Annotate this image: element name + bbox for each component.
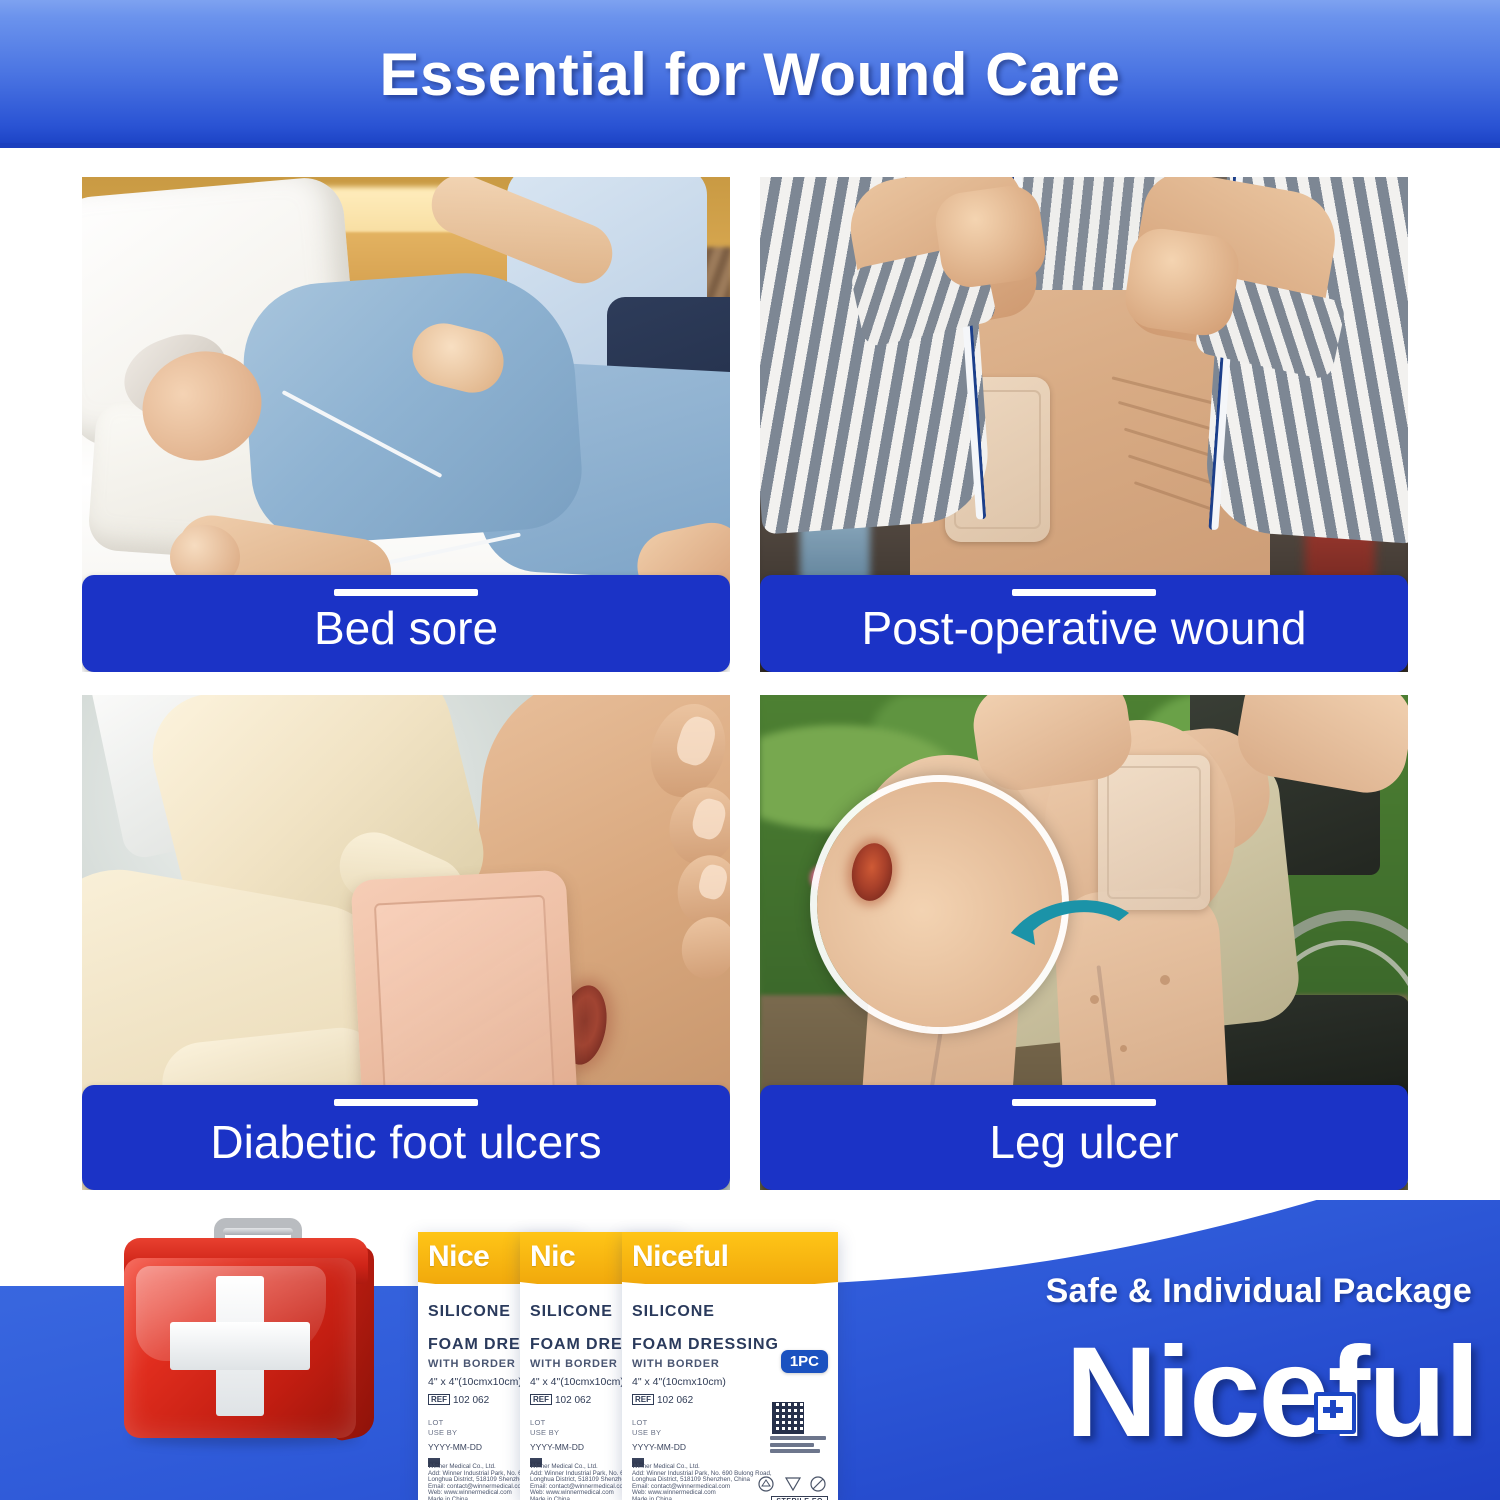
ref-label: REF: [530, 1394, 552, 1405]
package-ref: REF102 062: [530, 1394, 591, 1406]
teal-arrow-icon: [1005, 895, 1135, 955]
package-subtitle: WITH BORDER: [530, 1358, 618, 1370]
brand-logo-text: Niceful: [1065, 1329, 1478, 1457]
page-title: Essential for Wound Care: [0, 40, 1500, 109]
caption-label: Bed sore: [82, 601, 730, 655]
code-text-lines: [770, 1436, 828, 1456]
lot-value: YYYY-MM-DD: [530, 1442, 584, 1452]
package-subtitle: WITH BORDER: [428, 1358, 516, 1370]
ref-value: 102 062: [657, 1395, 693, 1406]
package-size: 4" x 4"(10cmx10cm): [530, 1376, 624, 1388]
caption-dash: [334, 1099, 478, 1106]
package-stack: Nice SILICONE FOAM DRESS WITH BORDER 4" …: [418, 1232, 838, 1500]
caption-dash: [334, 589, 478, 596]
package-brand: Nic: [530, 1240, 575, 1274]
medical-cross-icon: [1314, 1392, 1356, 1434]
package-title-1: SILICONE: [428, 1304, 511, 1319]
package-front: Niceful SILICONE FOAM DRESSING WITH BORD…: [622, 1232, 838, 1500]
lot-symbol: LOT: [632, 1418, 648, 1427]
lot-symbol: LOT: [428, 1418, 444, 1427]
use-case-card-post-operative-wound[interactable]: Post-operative wound: [760, 177, 1408, 672]
lot-symbol: LOT: [530, 1418, 546, 1427]
lot-value: YYYY-MM-DD: [428, 1442, 482, 1452]
foam-dressing-on-knee: [1098, 755, 1210, 910]
package-subtitle: WITH BORDER: [632, 1358, 720, 1370]
caption-label: Leg ulcer: [760, 1115, 1408, 1169]
caption-bar: Bed sore: [82, 575, 730, 672]
header-banner: Essential for Wound Care: [0, 0, 1500, 148]
brand-logo: Niceful: [1065, 1318, 1478, 1468]
package-brand: Nice: [428, 1240, 489, 1274]
package-address: Winner Medical Co., Ltd. Add: Winner Ind…: [632, 1464, 782, 1500]
count-badge: 1PC: [781, 1350, 828, 1373]
ref-value: 102 062: [555, 1395, 591, 1406]
use-case-grid: Bed sore Post-operative wound: [82, 177, 1419, 1212]
useby-symbol: USE BY: [428, 1428, 457, 1437]
caption-bar: Leg ulcer: [760, 1085, 1408, 1190]
caption-bar: Post-operative wound: [760, 575, 1408, 672]
package-ref: REF102 062: [632, 1394, 693, 1406]
ref-label: REF: [632, 1394, 654, 1405]
use-case-card-leg-ulcer[interactable]: Leg ulcer: [760, 695, 1408, 1190]
product-poster: Essential for Wound Care Bed sore: [0, 0, 1500, 1500]
caption-label: Post-operative wound: [760, 601, 1408, 655]
package-title-1: SILICONE: [632, 1304, 715, 1319]
tagline: Safe & Individual Package: [1046, 1272, 1472, 1311]
package-ref: REF102 062: [428, 1394, 489, 1406]
caption-dash: [1012, 589, 1156, 596]
use-case-card-bed-sore[interactable]: Bed sore: [82, 177, 730, 672]
package-title-1: SILICONE: [530, 1304, 613, 1319]
use-case-card-diabetic-foot-ulcers[interactable]: Diabetic foot ulcers: [82, 695, 730, 1190]
first-aid-kit-icon: [110, 1218, 378, 1486]
datamatrix-code-icon: [772, 1402, 804, 1434]
package-brand: Niceful: [632, 1240, 729, 1274]
package-size: 4" x 4"(10cmx10cm): [632, 1376, 726, 1388]
package-size: 4" x 4"(10cmx10cm): [428, 1376, 522, 1388]
ref-value: 102 062: [453, 1395, 489, 1406]
useby-symbol: USE BY: [530, 1428, 559, 1437]
caption-dash: [1012, 1099, 1156, 1106]
caption-label: Diabetic foot ulcers: [82, 1115, 730, 1169]
package-title-2: FOAM DRESSING: [632, 1336, 779, 1354]
ref-label: REF: [428, 1394, 450, 1405]
caption-bar: Diabetic foot ulcers: [82, 1085, 730, 1190]
useby-symbol: USE BY: [632, 1428, 661, 1437]
lot-value: YYYY-MM-DD: [632, 1442, 686, 1452]
